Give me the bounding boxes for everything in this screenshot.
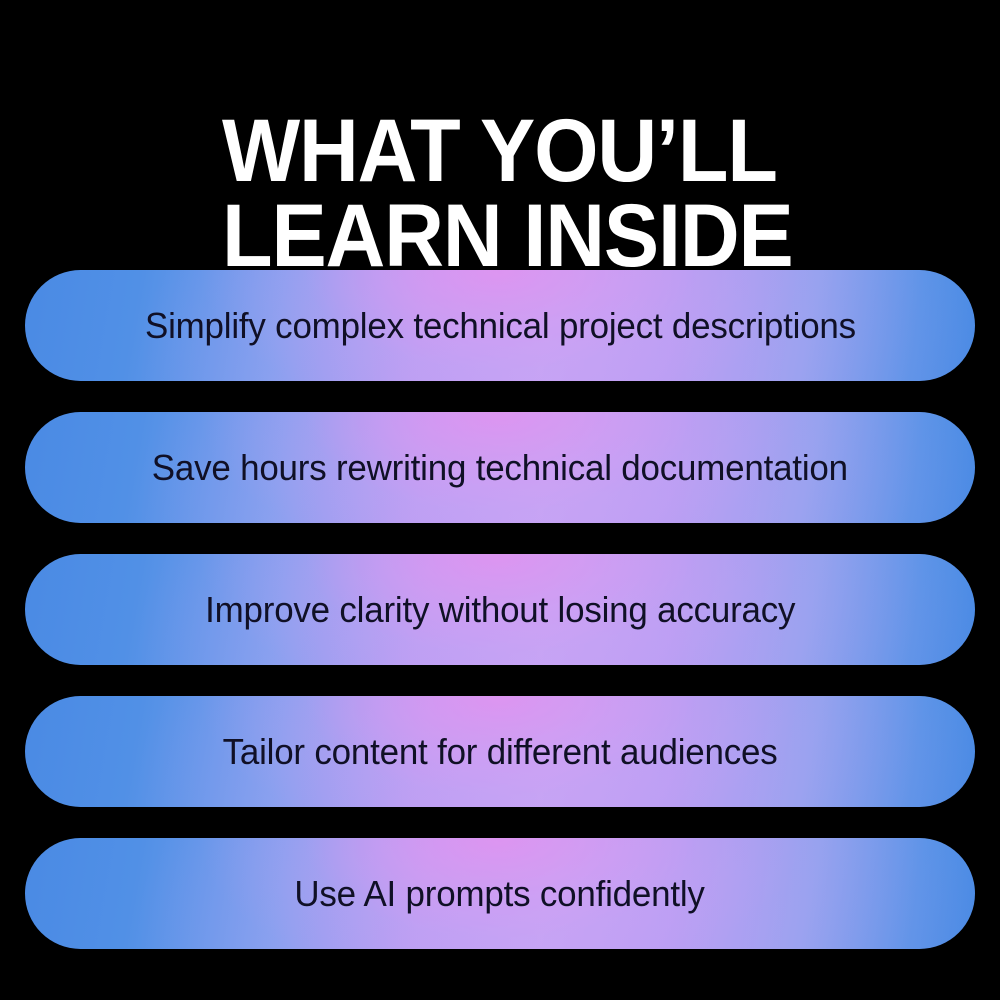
list-item-label: Simplify complex technical project descr…	[145, 308, 856, 344]
page-title: WHAT YOU’LL LEARN INSIDE	[222, 108, 929, 279]
list-item[interactable]: Save hours rewriting technical documenta…	[25, 412, 975, 523]
slide-canvas: WHAT YOU’LL LEARN INSIDE Simplify comple…	[0, 0, 1000, 1000]
list-item[interactable]: Improve clarity without losing accuracy	[25, 554, 975, 665]
list-item-label: Improve clarity without losing accuracy	[205, 592, 795, 628]
list-item-label: Tailor content for different audiences	[223, 734, 778, 770]
list-item[interactable]: Tailor content for different audiences	[25, 696, 975, 807]
list-item[interactable]: Simplify complex technical project descr…	[25, 270, 975, 381]
benefit-list: Simplify complex technical project descr…	[25, 270, 975, 949]
list-item-label: Save hours rewriting technical documenta…	[152, 450, 848, 486]
list-item-label: Use AI prompts confidently	[295, 876, 705, 912]
list-item[interactable]: Use AI prompts confidently	[25, 838, 975, 949]
